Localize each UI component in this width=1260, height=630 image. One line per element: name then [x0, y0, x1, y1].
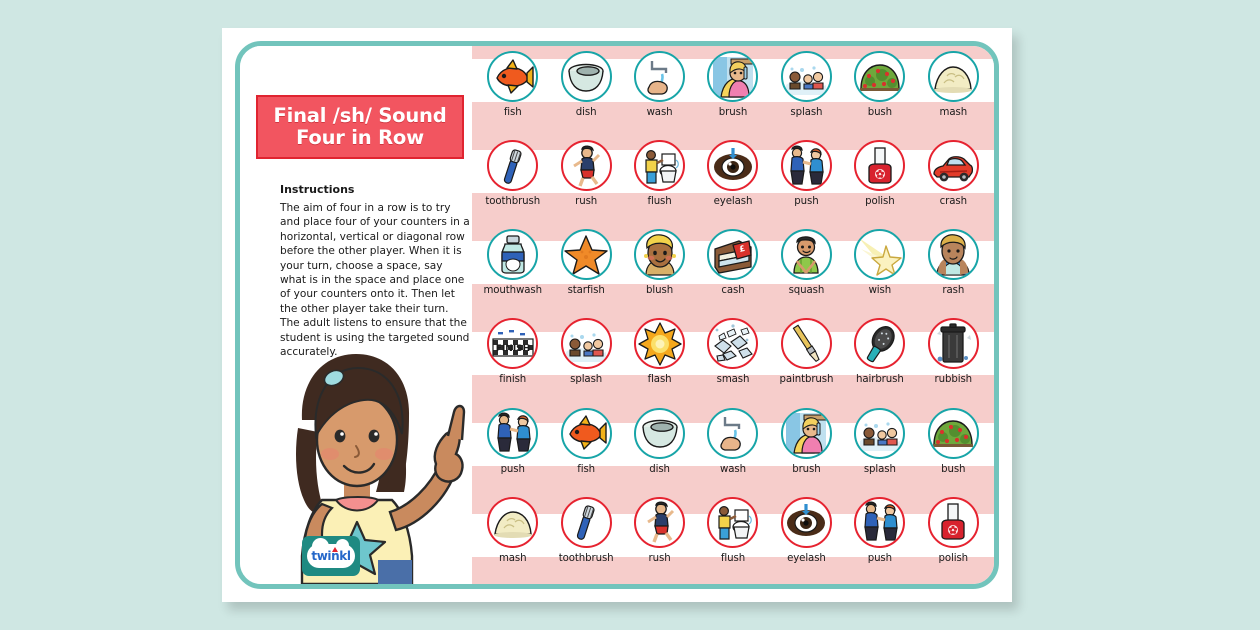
flash-icon[interactable] — [634, 318, 685, 369]
starfish-icon[interactable] — [561, 229, 612, 280]
hairbrush-icon[interactable] — [854, 318, 905, 369]
board-cell[interactable]: push — [476, 404, 549, 493]
bin-icon[interactable] — [928, 318, 979, 369]
board-cell[interactable]: toothbrush — [476, 136, 549, 225]
eye-icon[interactable] — [707, 140, 758, 191]
nailpolish-icon[interactable] — [854, 140, 905, 191]
rash-icon[interactable] — [928, 229, 979, 280]
cell-word-label: crash — [940, 196, 967, 207]
cell-word-label: toothbrush — [559, 553, 614, 564]
runner-icon[interactable] — [634, 497, 685, 548]
cell-word-label: flash — [648, 374, 672, 385]
board-cell[interactable]: push — [843, 493, 916, 582]
handwash-icon[interactable] — [707, 408, 758, 459]
eye-icon[interactable] — [781, 497, 832, 548]
board-cell[interactable]: fish — [476, 47, 549, 136]
board-cell[interactable]: dish — [549, 47, 622, 136]
girl-brush-icon[interactable] — [707, 51, 758, 102]
mash-icon[interactable] — [928, 51, 979, 102]
board-cell[interactable]: rush — [549, 136, 622, 225]
board-cell[interactable]: rash — [917, 225, 990, 314]
board-cell[interactable]: toothbrush — [549, 493, 622, 582]
cell-word-label: rubbish — [935, 374, 972, 385]
cell-word-label: brush — [719, 107, 747, 118]
cell-word-label: blush — [646, 285, 673, 296]
blush-icon[interactable] — [634, 229, 685, 280]
title-banner: Final /sh/ Sound Four in Row — [256, 95, 464, 159]
cell-word-label: push — [868, 553, 892, 564]
push-icon[interactable] — [487, 408, 538, 459]
board-cell[interactable]: rubbish — [917, 314, 990, 403]
cell-word-label: splash — [790, 107, 822, 118]
toothbrush-icon[interactable] — [487, 140, 538, 191]
nailpolish-icon[interactable] — [928, 497, 979, 548]
cell-word-label: polish — [865, 196, 895, 207]
cell-word-label: finish — [499, 374, 526, 385]
title-line-1: Final /sh/ Sound — [273, 104, 446, 127]
shooting-star-icon[interactable] — [854, 229, 905, 280]
cell-word-label: mash — [940, 107, 968, 118]
cell-word-label: bush — [941, 464, 965, 475]
cell-word-label: splash — [864, 464, 896, 475]
car-icon[interactable] — [928, 140, 979, 191]
cell-word-label: squash — [789, 285, 825, 296]
mash-icon[interactable] — [487, 497, 538, 548]
cell-word-label: cash — [721, 285, 744, 296]
board-cell[interactable]: squash — [770, 225, 843, 314]
page-title: Final /sh/ Sound Four in Row — [273, 105, 446, 149]
cell-word-label: toothbrush — [485, 196, 540, 207]
push-icon[interactable] — [781, 140, 832, 191]
squash-icon[interactable] — [781, 229, 832, 280]
board-cell[interactable]: smash — [696, 314, 769, 403]
cell-word-label: brush — [792, 464, 820, 475]
toilet-icon[interactable] — [707, 497, 758, 548]
board-cell[interactable]: wash — [696, 404, 769, 493]
cell-word-label: starfish — [568, 285, 605, 296]
cell-word-label: fish — [504, 107, 522, 118]
cell-word-label: splash — [570, 374, 602, 385]
cell-word-label: wash — [720, 464, 746, 475]
paintbrush-icon[interactable] — [781, 318, 832, 369]
worksheet-page: Final /sh/ Sound Four in Row Instruction… — [222, 28, 1012, 602]
cell-word-label: paintbrush — [779, 374, 833, 385]
splash-icon[interactable] — [561, 318, 612, 369]
finish-line-icon[interactable]: FINISH — [487, 318, 538, 369]
screenshot-root: Final /sh/ Sound Four in Row Instruction… — [0, 0, 1260, 630]
cash-icon[interactable]: £ — [707, 229, 758, 280]
cell-word-label: flush — [721, 553, 745, 564]
cell-word-label: bush — [868, 107, 892, 118]
board-grid: fish dish wash brush splash bush — [472, 46, 994, 584]
toilet-icon[interactable] — [634, 140, 685, 191]
board-cell[interactable]: brush — [696, 47, 769, 136]
bush-icon[interactable] — [928, 408, 979, 459]
worksheet-frame: Final /sh/ Sound Four in Row Instruction… — [235, 41, 999, 589]
cell-word-label: mash — [499, 553, 527, 564]
cell-word-label: eyelash — [787, 553, 826, 564]
twinkl-dot-icon — [332, 547, 338, 552]
runner-icon[interactable] — [561, 140, 612, 191]
board-cell[interactable]: £cash — [696, 225, 769, 314]
cell-word-label: hairbrush — [856, 374, 904, 385]
board-cell[interactable]: splash — [770, 47, 843, 136]
board-cell[interactable]: flush — [623, 136, 696, 225]
cell-word-label: wish — [869, 285, 892, 296]
board-cell[interactable]: flush — [696, 493, 769, 582]
cell-word-label: mouthwash — [483, 285, 542, 296]
board-cell[interactable]: brush — [770, 404, 843, 493]
girl-illustration — [260, 324, 472, 584]
board-cell[interactable]: wash — [623, 47, 696, 136]
board-cell[interactable]: FINISH finish — [476, 314, 549, 403]
cell-word-label: dish — [649, 464, 670, 475]
board-cell[interactable]: hairbrush — [843, 314, 916, 403]
bowl-icon[interactable] — [634, 408, 685, 459]
board-cell[interactable]: flash — [623, 314, 696, 403]
girl-brush-icon[interactable] — [781, 408, 832, 459]
cell-word-label: wash — [647, 107, 673, 118]
board-cell[interactable]: fish — [549, 404, 622, 493]
cell-word-label: rush — [575, 196, 597, 207]
mouthwash-icon[interactable] — [487, 229, 538, 280]
twinkl-wordmark: twinkl — [311, 549, 350, 563]
smash-icon[interactable] — [707, 318, 758, 369]
instructions-panel: Final /sh/ Sound Four in Row Instruction… — [240, 46, 472, 584]
board-cell[interactable]: blush — [623, 225, 696, 314]
board-cell[interactable]: polish — [843, 136, 916, 225]
board-cell[interactable]: bush — [917, 404, 990, 493]
toothbrush-icon[interactable] — [561, 497, 612, 548]
board-cell[interactable]: dish — [623, 404, 696, 493]
board-cell[interactable]: mouthwash — [476, 225, 549, 314]
board-cell[interactable]: starfish — [549, 225, 622, 314]
cell-word-label: eyelash — [714, 196, 753, 207]
bowl-icon[interactable] — [561, 51, 612, 102]
board-cell[interactable]: push — [770, 136, 843, 225]
board-cell[interactable]: splash — [843, 404, 916, 493]
splash-icon[interactable] — [781, 51, 832, 102]
push-icon[interactable] — [854, 497, 905, 548]
board-cell[interactable]: mash — [476, 493, 549, 582]
cell-word-label: dish — [576, 107, 597, 118]
handwash-icon[interactable] — [634, 51, 685, 102]
twinkl-logo: twinkl — [302, 536, 360, 576]
cell-word-label: smash — [717, 374, 750, 385]
cell-word-label: rash — [942, 285, 964, 296]
fish-icon[interactable] — [561, 408, 612, 459]
board-cell[interactable]: mash — [917, 47, 990, 136]
cell-word-label: polish — [939, 553, 969, 564]
board-cell[interactable]: bush — [843, 47, 916, 136]
cell-word-label: push — [501, 464, 525, 475]
board-cell[interactable]: rush — [623, 493, 696, 582]
cell-word-label: fish — [577, 464, 595, 475]
cloud-shape: twinkl — [307, 544, 355, 568]
board-cell[interactable]: splash — [549, 314, 622, 403]
cell-word-label: push — [794, 196, 818, 207]
board-cell[interactable]: polish — [917, 493, 990, 582]
board-cell[interactable]: paintbrush — [770, 314, 843, 403]
splash-icon[interactable] — [854, 408, 905, 459]
board-cell[interactable]: crash — [917, 136, 990, 225]
board-cell[interactable]: eyelash — [770, 493, 843, 582]
fish-icon[interactable] — [487, 51, 538, 102]
board-cell[interactable]: eyelash — [696, 136, 769, 225]
game-board: fish dish wash brush splash bush — [472, 46, 994, 584]
svg-text:FINISH: FINISH — [496, 344, 530, 354]
board-cell[interactable]: wish — [843, 225, 916, 314]
instructions-heading: Instructions — [280, 183, 354, 196]
cell-word-label: flush — [647, 196, 671, 207]
cell-word-label: rush — [649, 553, 671, 564]
bush-icon[interactable] — [854, 51, 905, 102]
title-line-2: Four in Row — [296, 126, 424, 149]
